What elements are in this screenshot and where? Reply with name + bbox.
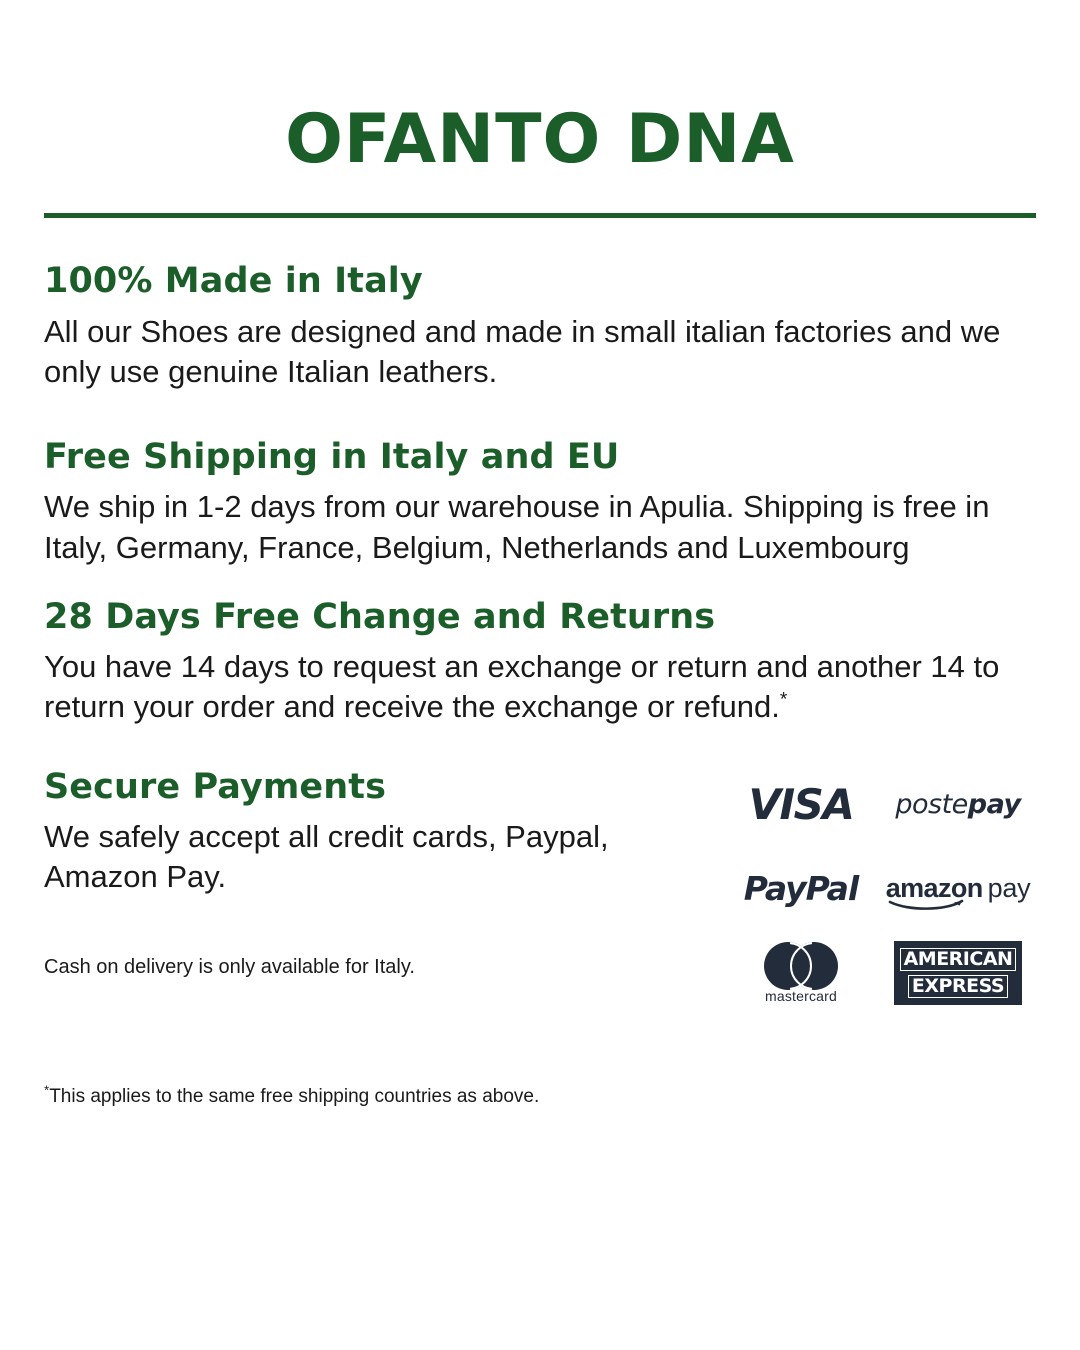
cash-on-delivery-note: Cash on delivery is only available for I…: [44, 954, 704, 981]
amazon-pay-wordmark: amazonpay: [886, 875, 1031, 902]
section-body-returns-text: You have 14 days to request an exchange …: [44, 649, 999, 724]
amazon-pay-logo: amazonpay: [888, 858, 1028, 920]
section-body-made-in-italy: All our Shoes are designed and made in s…: [44, 312, 1034, 393]
section-body-secure-payments: We safely accept all credit cards, Paypa…: [44, 817, 684, 898]
section-body-free-shipping: We ship in 1-2 days from our warehouse i…: [44, 487, 1034, 568]
visa-logo: VISA: [736, 774, 866, 836]
section-heading-made-in-italy: 100% Made in Italy: [44, 262, 1036, 301]
amex-wordmark-line-1: AMERICAN: [900, 948, 1017, 971]
page-footnote: *This applies to the same free shipping …: [44, 1030, 1036, 1108]
header-divider: [44, 213, 1036, 218]
mastercard-circles-icon: [764, 942, 838, 983]
returns-footnote-marker: *: [780, 690, 787, 711]
mastercard-logo: mastercard: [736, 942, 866, 1004]
payment-logo-grid: VISA postepay PayPal amazonpay: [736, 768, 1036, 1004]
postepay-wordmark-bold: pay: [968, 789, 1021, 820]
section-secure-payments: Secure Payments We safely accept all cre…: [44, 768, 1036, 1004]
american-express-logo: AMERICAN EXPRESS: [888, 942, 1028, 1004]
postepay-logo: postepay: [888, 774, 1028, 836]
paypal-wordmark: PayPal: [744, 869, 859, 908]
amazon-pay-suffix: pay: [988, 873, 1031, 903]
footnote-text: This applies to the same free shipping c…: [49, 1086, 539, 1107]
section-made-in-italy: 100% Made in Italy All our Shoes are des…: [44, 262, 1036, 392]
page-title: OFANTO DNA: [44, 0, 1036, 175]
secure-payments-copy: Secure Payments We safely accept all cre…: [44, 768, 704, 981]
section-heading-secure-payments: Secure Payments: [44, 768, 704, 807]
section-body-returns: You have 14 days to request an exchange …: [44, 647, 1034, 728]
section-heading-returns: 28 Days Free Change and Returns: [44, 598, 1036, 637]
mastercard-overlap: [790, 942, 812, 990]
postepay-wordmark: postepay: [895, 789, 1020, 820]
paypal-logo: PayPal: [736, 858, 866, 920]
amazon-swoosh-icon: [888, 899, 966, 911]
page-root: OFANTO DNA 100% Made in Italy All our Sh…: [0, 0, 1080, 1350]
visa-wordmark: VISA: [749, 780, 854, 829]
section-free-shipping: Free Shipping in Italy and EU We ship in…: [44, 438, 1036, 568]
amex-badge: AMERICAN EXPRESS: [894, 941, 1022, 1005]
amex-wordmark-line-2: EXPRESS: [908, 975, 1008, 998]
section-heading-free-shipping: Free Shipping in Italy and EU: [44, 438, 1036, 477]
mastercard-wordmark: mastercard: [765, 988, 837, 1004]
section-returns: 28 Days Free Change and Returns You have…: [44, 598, 1036, 728]
postepay-wordmark-light: poste: [895, 789, 967, 820]
content-sections: 100% Made in Italy All our Shoes are des…: [44, 262, 1036, 1003]
